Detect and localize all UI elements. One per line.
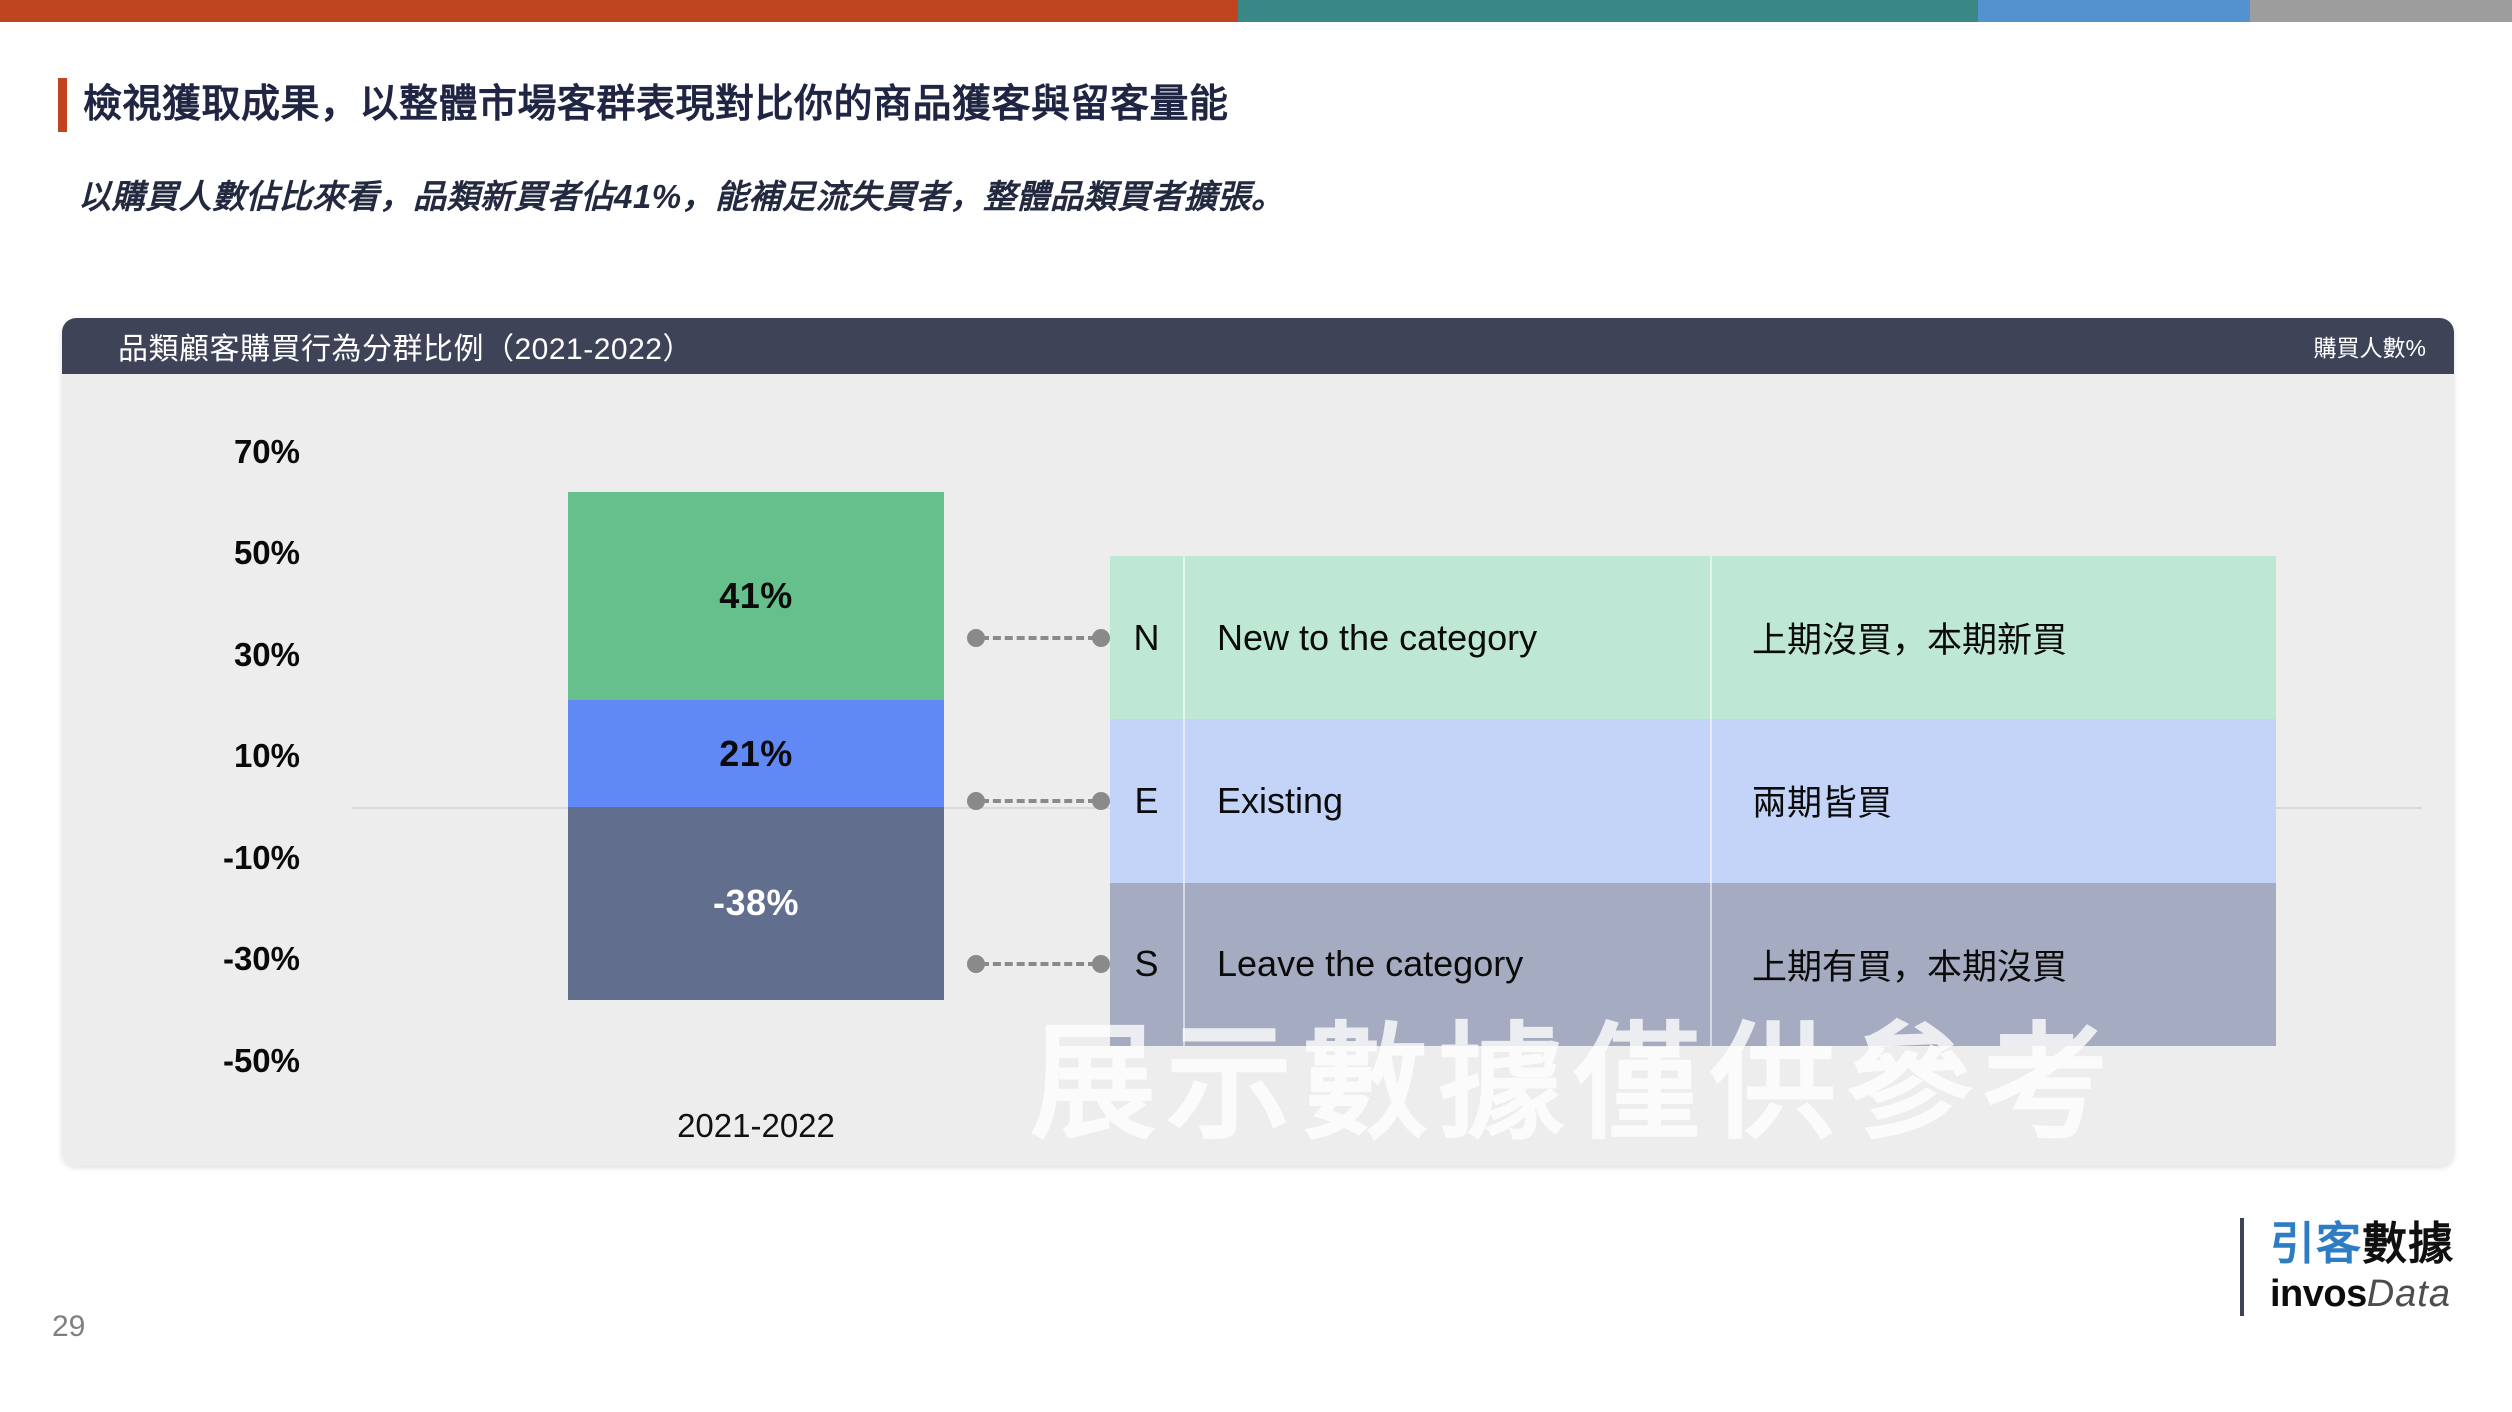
y-axis-tick: 30% [234, 636, 300, 674]
connector-dash [981, 962, 1096, 966]
logo-text-stack: 引客數據 invosData [2270, 1218, 2454, 1316]
legend-row-s[interactable]: SLeave the category上期有買，本期沒買 [1110, 883, 2276, 1046]
legend-table: NNew to the category上期沒買，本期新買EExisting兩期… [1110, 556, 2276, 1046]
connector-dot-right [1092, 792, 1110, 810]
chart-card-body: 70%50%30%10%-10%-30%-50% 21%41%-38% 2021… [62, 374, 2454, 1166]
legend-connector-n [967, 629, 1110, 647]
legend-label-en: Leave the category [1185, 943, 1710, 985]
bar-segment-n: 41% [568, 492, 944, 700]
chart-title: 品類顧客購買行為分群比例（2021-2022） [118, 324, 693, 368]
legend-key-letter: N [1110, 617, 1183, 659]
y-axis-tick: -30% [223, 940, 300, 978]
legend-row-e[interactable]: EExisting兩期皆買 [1110, 719, 2276, 882]
chart-card-header: 品類顧客購買行為分群比例（2021-2022） 購買人數% [62, 318, 2454, 374]
legend-connector-e [967, 792, 1110, 810]
y-axis-tick: 50% [234, 534, 300, 572]
top-color-bar [0, 0, 2512, 22]
y-axis-tick: 10% [234, 737, 300, 775]
bar-segment-e: 21% [568, 700, 944, 807]
page-subtitle: 以購買人數佔比來看，品類新買者佔41%，能補足流失買者，整體品類買者擴張。 [78, 170, 1285, 218]
legend-connector-s [967, 955, 1110, 973]
connector-dot-right [1092, 955, 1110, 973]
legend-label-zh: 上期有買，本期沒買 [1712, 939, 2276, 990]
bar-value-label: 41% [719, 575, 793, 617]
logo-divider-bar [2240, 1218, 2244, 1316]
title-accent-bar [58, 78, 67, 132]
page-number: 29 [52, 1310, 85, 1344]
logo-chinese-name: 引客數據 [2270, 1218, 2454, 1270]
y-axis: 70%50%30%10%-10%-30%-50% [62, 374, 322, 1166]
slide-title-row: 檢視獲取成果，以整體市場客群表現對比你的商品獲客與留客量能 [58, 78, 1229, 132]
y-axis-tick: -50% [223, 1042, 300, 1080]
logo-cn-blue: 引客 [2270, 1218, 2362, 1269]
legend-key-letter: S [1110, 943, 1183, 985]
chart-unit-label: 購買人數% [2314, 329, 2426, 363]
connector-dash [981, 799, 1096, 803]
y-axis-tick: 70% [234, 433, 300, 471]
bar-value-label: -38% [713, 882, 799, 924]
logo-en-italic: Data [2367, 1273, 2451, 1315]
logo-cn-dark: 數據 [2362, 1218, 2454, 1269]
legend-label-en: Existing [1185, 780, 1710, 822]
bar-value-label: 21% [719, 733, 793, 775]
topbar-segment-blue [1978, 0, 2250, 22]
bar-segment-s: -38% [568, 807, 944, 1000]
bar-column: 21%41%-38% [568, 374, 944, 1166]
topbar-segment-orange [0, 0, 1238, 22]
slide: 檢視獲取成果，以整體市場客群表現對比你的商品獲客與留客量能 以購買人數佔比來看，… [0, 0, 2512, 1412]
logo-en-bold: invos [2270, 1273, 2367, 1315]
legend-label-zh: 兩期皆買 [1712, 775, 2276, 826]
brand-logo: 引客數據 invosData [2240, 1218, 2454, 1316]
legend-row-n[interactable]: NNew to the category上期沒買，本期新買 [1110, 556, 2276, 719]
connector-dot-right [1092, 629, 1110, 647]
y-axis-tick: -10% [223, 839, 300, 877]
logo-english-name: invosData [2270, 1272, 2454, 1316]
topbar-segment-teal [1238, 0, 1978, 22]
chart-card: 品類顧客購買行為分群比例（2021-2022） 購買人數% 70%50%30%1… [62, 318, 2454, 1166]
legend-label-zh: 上期沒買，本期新買 [1712, 612, 2276, 663]
connector-dash [981, 636, 1096, 640]
topbar-segment-gray [2250, 0, 2512, 22]
page-title: 檢視獲取成果，以整體市場客群表現對比你的商品獲客與留客量能 [83, 78, 1229, 132]
x-axis-label: 2021-2022 [568, 1107, 944, 1145]
legend-key-letter: E [1110, 780, 1183, 822]
legend-label-en: New to the category [1185, 617, 1710, 659]
